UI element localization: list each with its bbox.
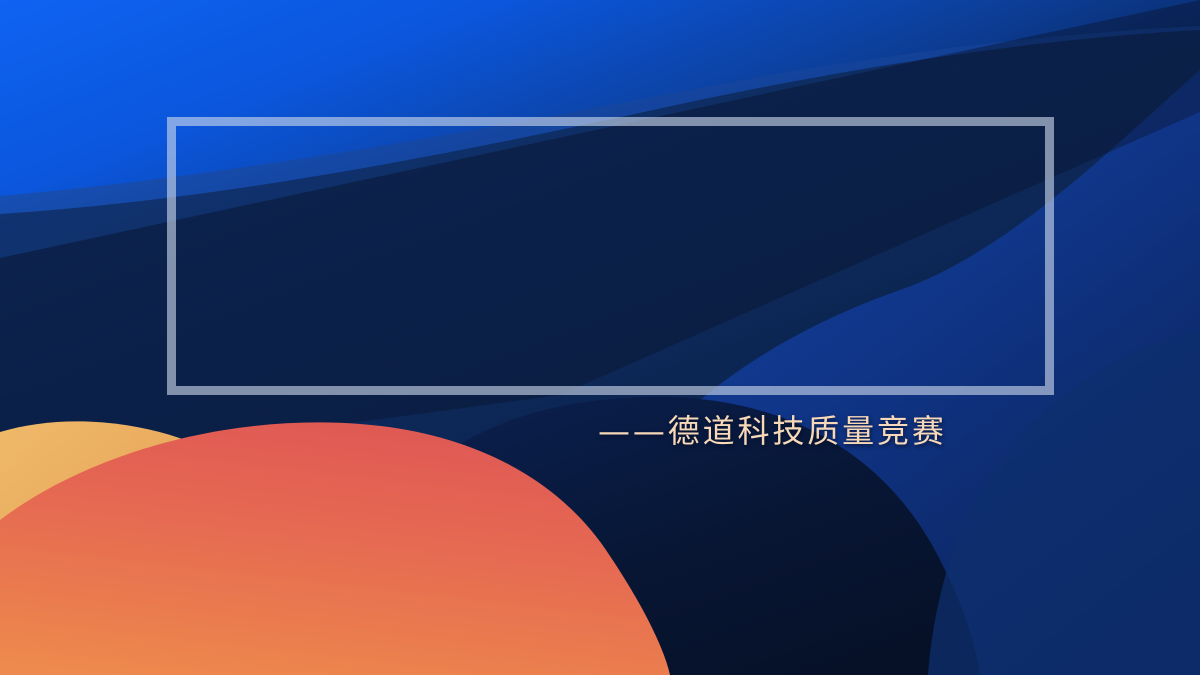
headline-line-1: 抓质量水平提升 xyxy=(196,138,1026,242)
headline-line-1-text: 抓质量水平提升 xyxy=(193,138,959,242)
subtitle: ——德道科技质量竞赛 xyxy=(598,406,947,452)
headline-line-2: 促发展方式转变 xyxy=(196,268,1026,372)
headline-block: 抓质量水平提升 促发展方式转变 xyxy=(196,128,1026,388)
headline-line-2-text: 促发展方式转变 xyxy=(193,268,959,372)
title-slide: 抓质量水平提升 促发展方式转变 ——德道科技质量竞赛 xyxy=(0,0,1200,675)
